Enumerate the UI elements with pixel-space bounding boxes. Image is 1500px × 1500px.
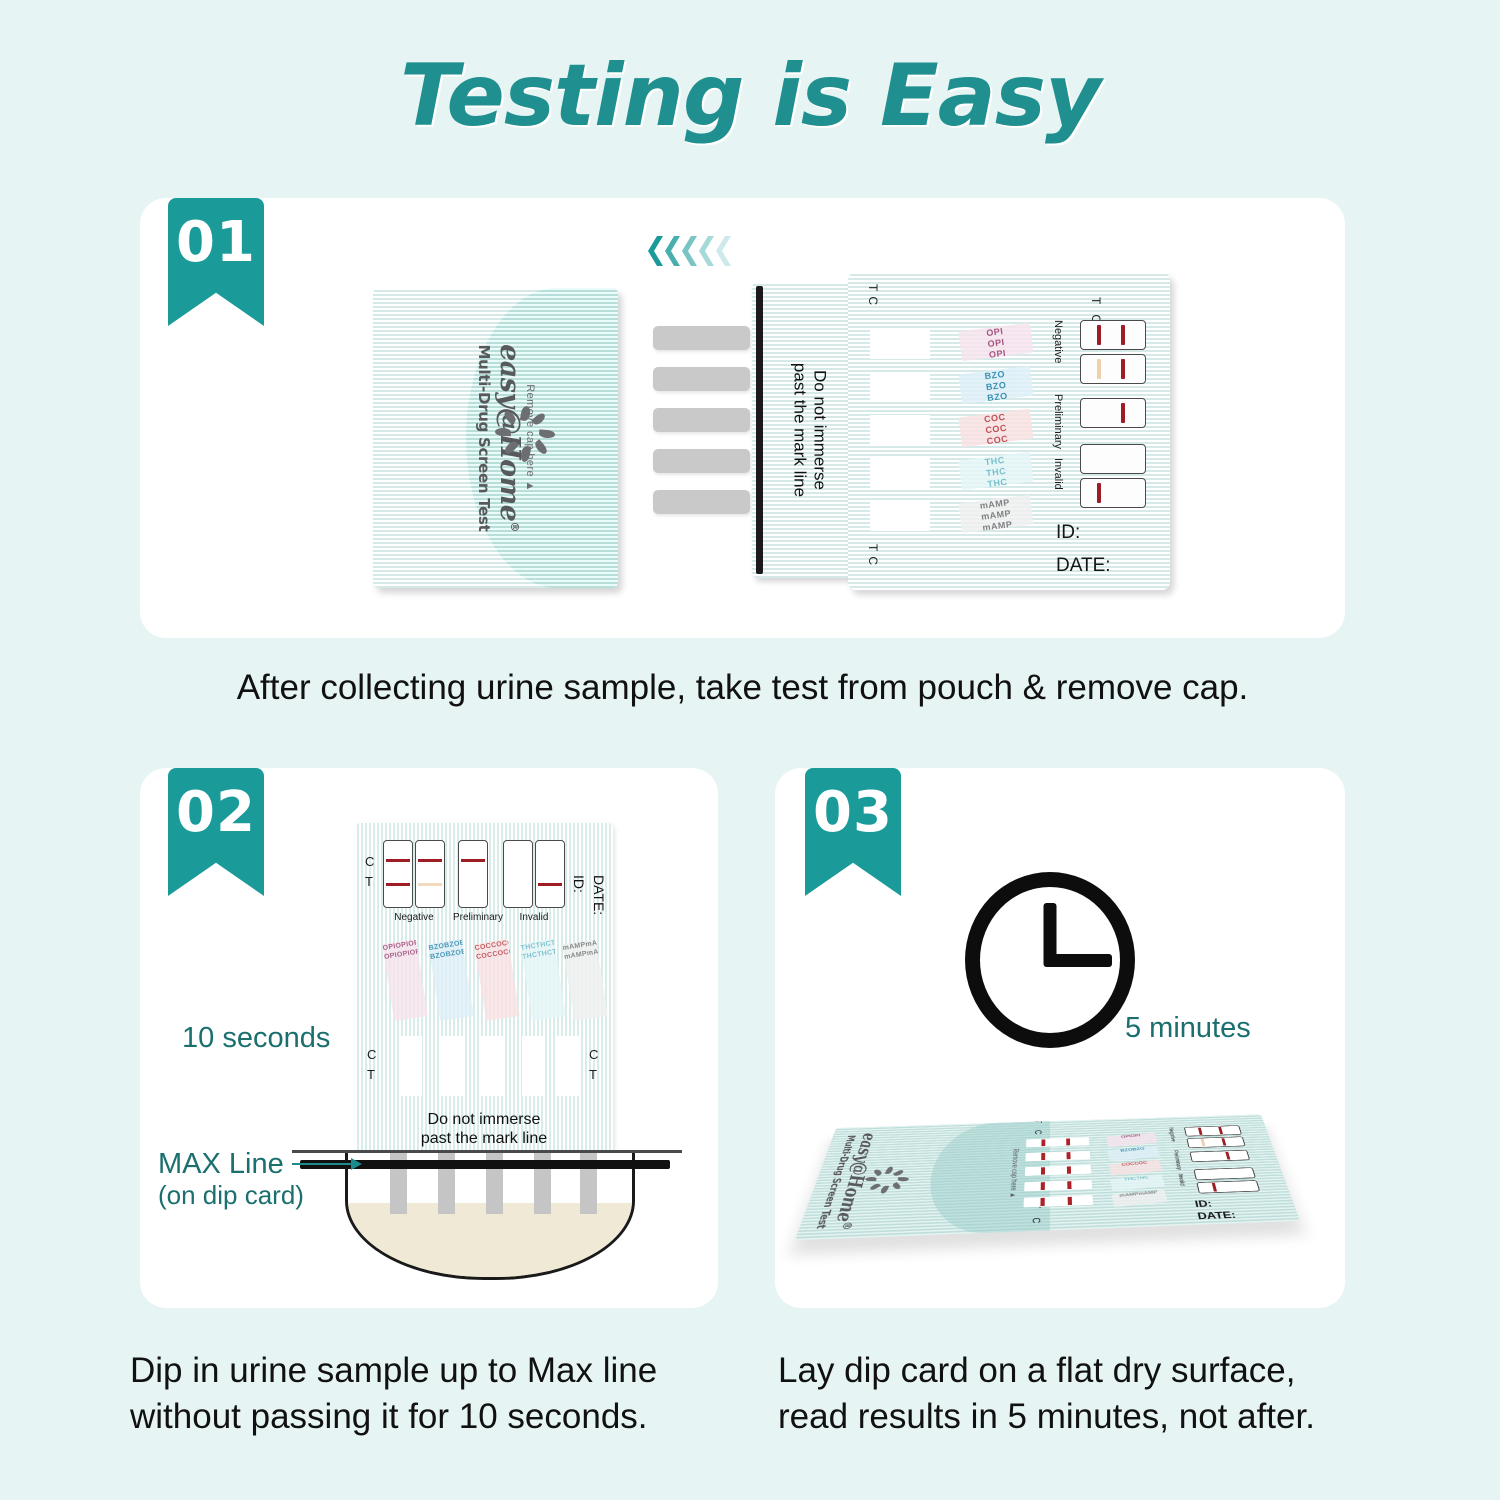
clock-hand-hour	[1050, 954, 1112, 967]
ct-marker-top: TC	[866, 284, 880, 310]
chevron-left-icon	[716, 236, 731, 266]
legend-label-negative: Negative	[1167, 1127, 1175, 1141]
ct-labels-left: C T	[367, 1045, 376, 1085]
drug-label-thc: THCTHC	[1110, 1174, 1165, 1191]
pouch-branding: easy@Home® Multi-Drug Screen Test	[475, 323, 525, 553]
id-field-label: ID:	[1056, 522, 1080, 544]
cap-tab	[653, 326, 750, 350]
clock-icon	[965, 872, 1135, 1048]
cap-tab	[653, 367, 750, 391]
test-window	[870, 372, 930, 402]
timer-label-5-minutes: 5 minutes	[1125, 1012, 1251, 1045]
chevron-left-icon	[699, 236, 714, 266]
direction-chevrons	[648, 236, 731, 266]
legend-label-preliminary: Preliminary	[453, 912, 495, 923]
ct-marker-bottom: TC	[866, 544, 880, 570]
urine-fill	[348, 1203, 632, 1277]
dip-card-result: easy@Home® Multi-Drug Screen Test Remove…	[795, 1114, 1300, 1240]
drug-label-thc: THCTHCTHC	[958, 452, 1033, 491]
ct-marker-bottom: TC	[1029, 1204, 1041, 1233]
legend-label-invalid: Invalid	[1176, 1174, 1184, 1186]
legend-box-preliminary	[1189, 1150, 1250, 1162]
drug-label-coc: COCCOCCOC	[958, 409, 1033, 448]
legend-box-invalid-b	[535, 840, 565, 908]
step-caption-02: Dip in urine sample up to Max line witho…	[130, 1348, 730, 1440]
test-window	[870, 329, 930, 359]
legend-box-preliminary	[1080, 398, 1146, 428]
chevron-left-icon	[682, 236, 697, 266]
chevron-left-icon	[665, 236, 680, 266]
cap-tab	[653, 408, 750, 432]
legend-label-preliminary: Preliminary	[1052, 394, 1064, 449]
max-line-arrow-icon	[292, 1163, 360, 1165]
drug-label-bzo: BZOBZOBZO	[958, 366, 1033, 405]
step-caption-01: After collecting urine sample, take test…	[140, 665, 1345, 711]
legend-label-preliminary: Preliminary	[1172, 1150, 1182, 1170]
legend-label-negative: Negative	[1052, 320, 1064, 363]
legend-label-invalid: Invalid	[1052, 458, 1064, 490]
mark-line-indicator	[756, 286, 763, 574]
test-window	[522, 1036, 545, 1096]
test-window-result	[1025, 1151, 1090, 1162]
drug-label-thc: THCTHCTHC THCTHCTHC	[520, 939, 566, 1021]
test-cap	[653, 326, 750, 531]
drug-label-mamp: mAMPmAMP	[1111, 1190, 1167, 1208]
legend-box-negative-a	[1080, 320, 1146, 350]
remove-cap-instruction: Remove cap here ▲	[524, 384, 536, 492]
step-number-01: 01	[176, 210, 256, 275]
test-pouch: easy@Home® Multi-Drug Screen Test Remove…	[373, 288, 618, 588]
legend-box-invalid-a	[1193, 1167, 1256, 1180]
drug-label-opi: OPIOPIOPI	[958, 323, 1033, 362]
step-number-02: 02	[176, 780, 256, 845]
legend-box-invalid-b	[1196, 1180, 1260, 1193]
page-title: Testing is Easy	[0, 46, 1500, 146]
test-window	[557, 1036, 580, 1096]
legend-box-negative-b	[1186, 1136, 1245, 1148]
step-caption-03: Lay dip card on a flat dry surface, read…	[778, 1348, 1378, 1440]
immerse-warning: Do not immerse past the mark line	[355, 1110, 613, 1148]
product-subtitle: Multi-Drug Screen Test	[475, 323, 493, 553]
drug-label-coc: COCCOC	[1109, 1160, 1163, 1176]
legend-box-preliminary	[458, 840, 488, 908]
test-window	[440, 1036, 463, 1096]
test-window-result	[1025, 1165, 1091, 1176]
drug-label-bzo: BZOBZO	[1107, 1146, 1160, 1161]
legend-box-negative-a	[1184, 1125, 1242, 1136]
test-window	[870, 501, 930, 531]
legend-box-negative-a	[383, 840, 413, 908]
legend-label-invalid: Invalid	[501, 912, 567, 923]
legend-label-negative: Negative	[377, 912, 451, 923]
cap-tab	[653, 449, 750, 473]
date-field-label: DATE:	[1196, 1209, 1237, 1221]
test-window	[870, 458, 930, 488]
infographic-page: Testing is Easy 01 easy@Home® Multi-Drug…	[0, 0, 1500, 1500]
drug-label-opi: OPIOPI	[1106, 1133, 1157, 1148]
dip-card-face: TC TC OPIOPIOPI BZOBZOBZO COCCOCCOC THCT…	[848, 272, 1170, 590]
max-line-annotation: MAX Line (on dip card)	[158, 1148, 304, 1211]
ct-labels-right: C T	[589, 1045, 598, 1085]
drug-label-coc: COCCOCCOC COCCOCCOC	[474, 939, 520, 1021]
test-window	[399, 1036, 422, 1096]
urine-cup	[345, 1152, 635, 1280]
cap-tab	[653, 490, 750, 514]
cup-rim	[292, 1150, 682, 1153]
immerse-warning: Do not immerse past the mark line	[790, 290, 829, 570]
legend-box-negative-b	[1080, 354, 1146, 384]
legend-box-negative-b	[415, 840, 445, 908]
test-window-result	[1024, 1180, 1092, 1192]
date-field-label: DATE:	[591, 875, 607, 915]
date-field-label: DATE:	[1056, 555, 1111, 577]
id-field-label: ID:	[571, 875, 587, 893]
ct-row-labels-legend: C T	[365, 852, 374, 892]
drug-label-opi: OPIOPIOPI OPIOPIOPI	[382, 939, 428, 1021]
test-window	[870, 415, 930, 445]
drug-label-bzo: BZOBZOBZO BZOBZOBZO	[428, 939, 474, 1021]
step-number-03: 03	[813, 780, 893, 845]
legend-box-invalid-b	[1080, 478, 1146, 508]
test-window-result	[1024, 1195, 1094, 1207]
id-field-label: ID:	[1194, 1198, 1213, 1209]
drug-label-mamp: mAMPmAMPmAMP mAMPmAMPmAMP	[562, 939, 608, 1021]
test-window	[481, 1036, 504, 1096]
brand-logo: easy@Home®	[494, 323, 525, 553]
chevron-left-icon	[648, 236, 663, 266]
timer-label-10-seconds: 10 seconds	[182, 1022, 330, 1055]
drug-label-mamp: mAMPmAMPmAMP	[958, 495, 1033, 534]
legend-box-invalid-a	[1080, 444, 1146, 474]
test-window-result	[1026, 1137, 1089, 1147]
legend-box-invalid-a	[503, 840, 533, 908]
